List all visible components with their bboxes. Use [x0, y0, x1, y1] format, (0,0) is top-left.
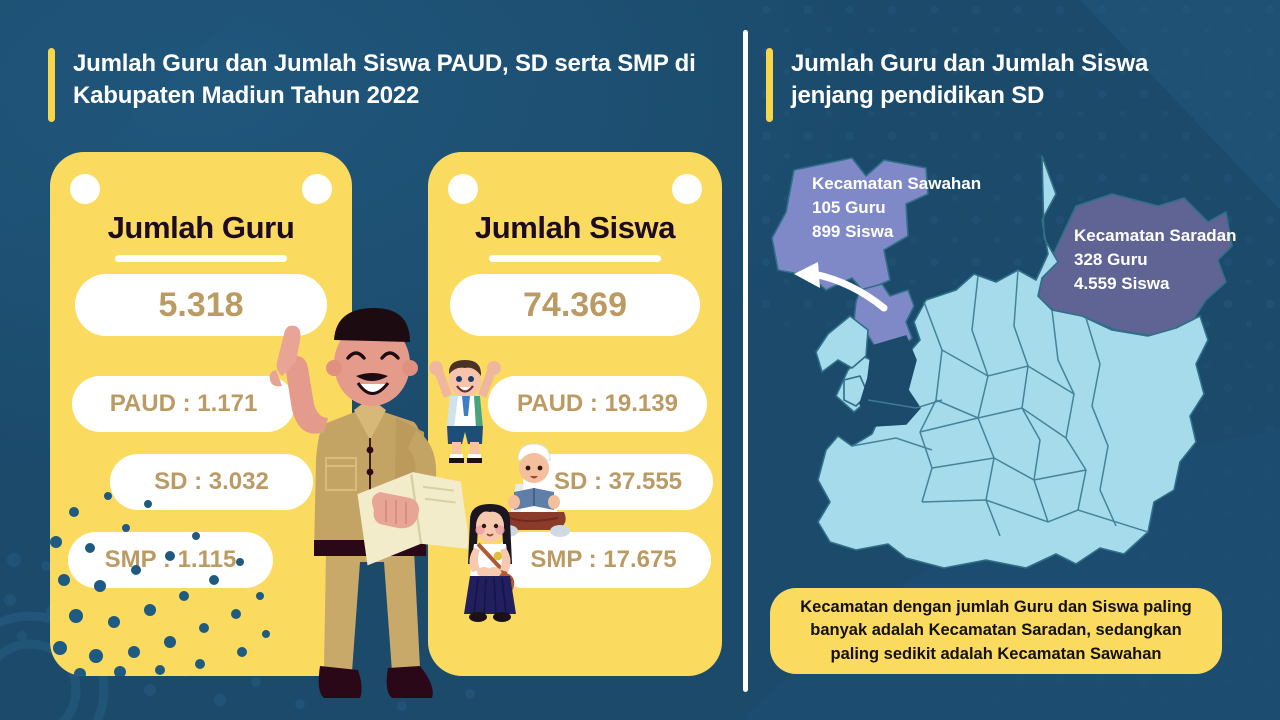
- vertical-divider: [743, 30, 748, 692]
- dot-texture-decoration: [50, 476, 280, 676]
- sawahan-siswa: 899 Siswa: [812, 220, 981, 244]
- saradan-guru: 328 Guru: [1074, 248, 1237, 272]
- punch-hole-icon: [448, 174, 478, 204]
- sawahan-name: Kecamatan Sawahan: [812, 172, 981, 196]
- sawahan-guru: 105 Guru: [812, 196, 981, 220]
- teacher-illustration: [268, 300, 468, 720]
- punch-hole-icon: [672, 174, 702, 204]
- title-underline: [489, 255, 661, 262]
- saradan-siswa: 4.559 Siswa: [1074, 272, 1237, 296]
- punch-hole-icon: [302, 174, 332, 204]
- siswa-total-value: 74.369: [450, 274, 700, 336]
- siswa-paud-value: PAUD : 19.139: [488, 376, 707, 432]
- card-siswa-title: Jumlah Siswa: [428, 210, 722, 246]
- right-panel-title: Jumlah Guru dan Jumlah Siswa jenjang pen…: [766, 48, 1236, 122]
- title-accent-bar: [766, 48, 773, 122]
- map-caption-box: Kecamatan dengan jumlah Guru dan Siswa p…: [770, 588, 1222, 674]
- map-label-saradan: Kecamatan Saradan 328 Guru 4.559 Siswa: [1074, 224, 1237, 296]
- left-title-text: Jumlah Guru dan Jumlah Siswa PAUD, SD se…: [73, 48, 728, 111]
- right-title-text: Jumlah Guru dan Jumlah Siswa jenjang pen…: [791, 48, 1236, 111]
- left-panel-title: Jumlah Guru dan Jumlah Siswa PAUD, SD se…: [48, 48, 728, 122]
- punch-hole-icon: [70, 174, 100, 204]
- map-caption-text: Kecamatan dengan jumlah Guru dan Siswa p…: [786, 596, 1206, 666]
- guru-paud-value: PAUD : 1.171: [72, 376, 295, 432]
- saradan-name: Kecamatan Saradan: [1074, 224, 1237, 248]
- title-accent-bar: [48, 48, 55, 122]
- map-region-notch: [860, 336, 920, 426]
- map-label-sawahan: Kecamatan Sawahan 105 Guru 899 Siswa: [812, 172, 981, 244]
- title-underline: [115, 255, 287, 262]
- card-guru-title: Jumlah Guru: [50, 210, 352, 246]
